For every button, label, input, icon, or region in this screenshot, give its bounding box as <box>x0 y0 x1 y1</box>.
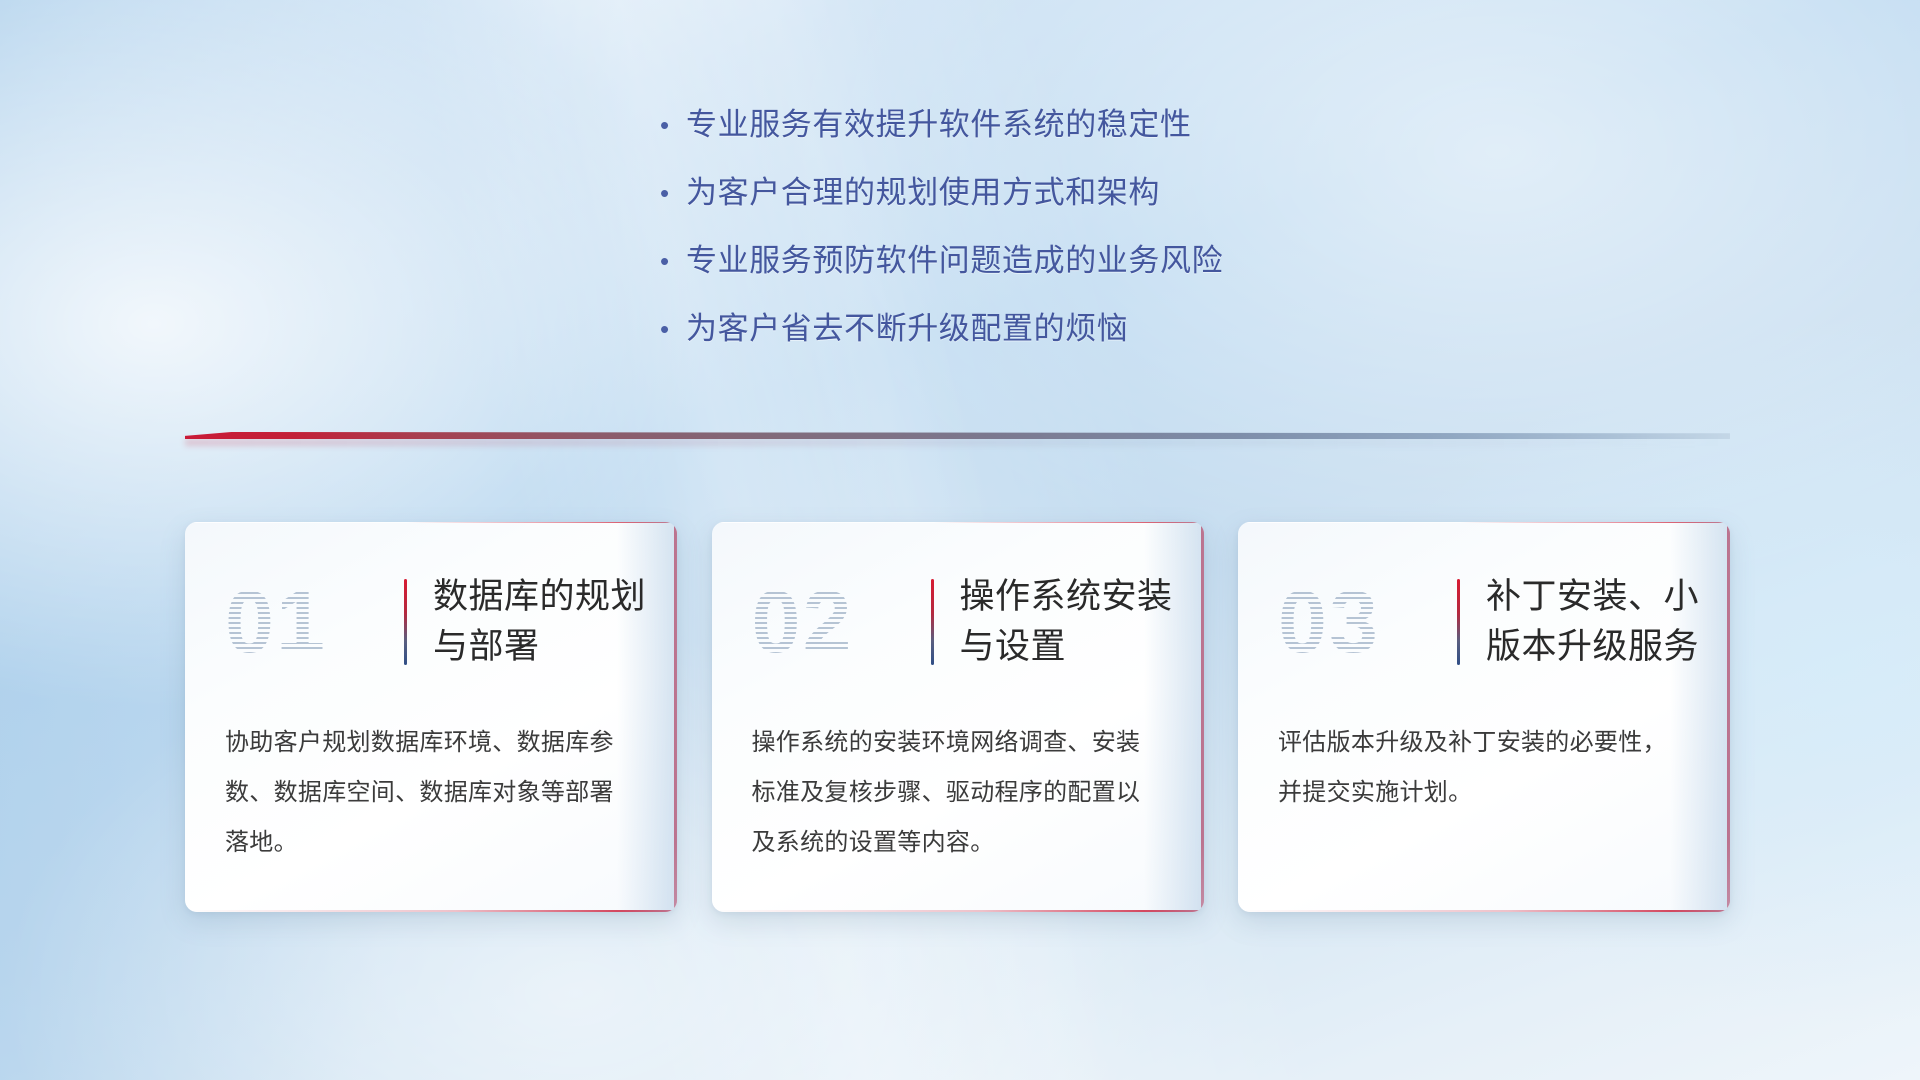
bullet-dot-icon: • <box>660 241 686 281</box>
card-accent-bottom <box>185 910 677 912</box>
card-title: 数据库的规划与部署 <box>433 572 647 672</box>
bullet-dot-icon: • <box>660 173 686 213</box>
card-header: 01 数据库的规划与部署 <box>185 522 677 684</box>
card-accent-bottom <box>1238 910 1730 912</box>
card-number: 02 <box>752 567 927 677</box>
bullet-label: 为客户合理的规划使用方式和架构 <box>686 173 1160 213</box>
card-header: 02 操作系统安装与设置 <box>712 522 1204 684</box>
divider-shadow <box>185 439 1730 446</box>
bullet-item: • 专业服务预防软件问题造成的业务风险 <box>660 241 1420 281</box>
card-divider-bar <box>404 579 407 665</box>
card-divider-bar <box>1457 579 1460 665</box>
divider-line <box>185 432 1730 439</box>
service-card[interactable]: 03 补丁安装、小版本升级服务 评估版本升级及补丁安装的必要性，并提交实施计划。 <box>1238 522 1730 912</box>
bullet-dot-icon: • <box>660 105 686 145</box>
service-card[interactable]: 02 操作系统安装与设置 操作系统的安装环境网络调查、安装标准及复核步骤、驱动程… <box>712 522 1204 912</box>
card-title: 操作系统安装与设置 <box>960 572 1174 672</box>
card-number: 01 <box>225 567 400 677</box>
card-body-text: 评估版本升级及补丁安装的必要性，并提交实施计划。 <box>1238 684 1730 818</box>
service-card[interactable]: 01 数据库的规划与部署 协助客户规划数据库环境、数据库参数、数据库空间、数据库… <box>185 522 677 912</box>
card-header: 03 补丁安装、小版本升级服务 <box>1238 522 1730 684</box>
card-title: 补丁安装、小版本升级服务 <box>1486 572 1700 672</box>
benefits-bullet-list: • 专业服务有效提升软件系统的稳定性 • 为客户合理的规划使用方式和架构 • 专… <box>660 105 1420 377</box>
bullet-label: 为客户省去不断升级配置的烦恼 <box>686 309 1128 349</box>
bullet-label: 专业服务预防软件问题造成的业务风险 <box>686 241 1223 281</box>
section-divider <box>185 432 1730 446</box>
bullet-item: • 为客户省去不断升级配置的烦恼 <box>660 309 1420 349</box>
card-body-text: 操作系统的安装环境网络调查、安装标准及复核步骤、驱动程序的配置以及系统的设置等内… <box>712 684 1204 868</box>
card-divider-bar <box>931 579 934 665</box>
card-accent-bottom <box>712 910 1204 912</box>
service-card-row: 01 数据库的规划与部署 协助客户规划数据库环境、数据库参数、数据库空间、数据库… <box>185 522 1730 912</box>
card-body-text: 协助客户规划数据库环境、数据库参数、数据库空间、数据库对象等部署落地。 <box>185 684 677 868</box>
bullet-item: • 为客户合理的规划使用方式和架构 <box>660 173 1420 213</box>
slide-root: { "theme": { "bullet_text_color": "#4457… <box>0 0 1920 1080</box>
bullet-item: • 专业服务有效提升软件系统的稳定性 <box>660 105 1420 145</box>
card-number: 03 <box>1278 567 1453 677</box>
bullet-label: 专业服务有效提升软件系统的稳定性 <box>686 105 1192 145</box>
bullet-dot-icon: • <box>660 309 686 349</box>
